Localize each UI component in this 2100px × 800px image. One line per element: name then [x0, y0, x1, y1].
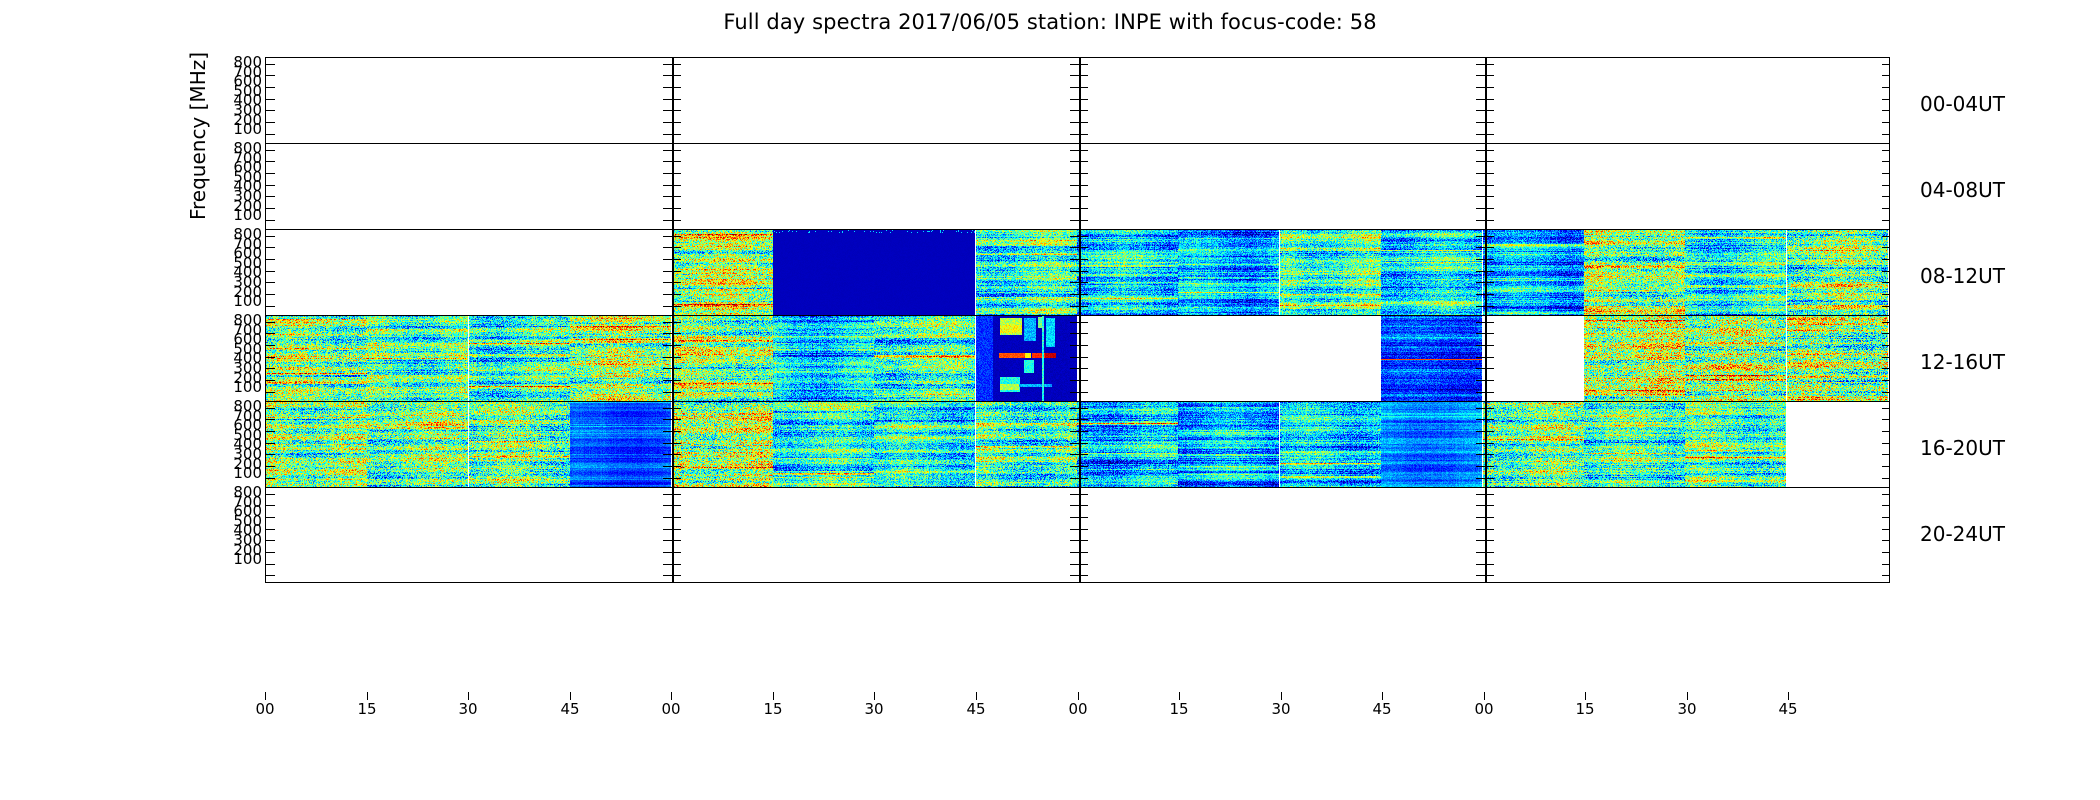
x-tick-label: 00 [1474, 700, 1493, 718]
y-tick-marks [672, 144, 681, 238]
x-tick-label: 30 [1271, 700, 1290, 718]
x-tick-label: 30 [458, 700, 477, 718]
y-tick-marks [1079, 402, 1088, 496]
x-tick-label: 15 [1575, 700, 1594, 718]
x-tick-mark [1788, 692, 1789, 700]
x-tick-mark [570, 692, 571, 700]
x-tick-mark [1281, 692, 1282, 700]
x-tick-label: 15 [1169, 700, 1188, 718]
y-tick-marks [1882, 144, 1890, 238]
panel-frame [265, 487, 1890, 583]
x-tick-label: 00 [1068, 700, 1087, 718]
y-tick-labels: 800700600500400300200100 [198, 144, 262, 221]
row-label-12-16ut: 12-16UT [1920, 350, 2005, 374]
y-tick-label: 100 [198, 211, 262, 221]
y-tick-marks [266, 402, 275, 496]
y-tick-marks [663, 144, 672, 238]
x-axis: 00153045001530450015304500153045 [265, 700, 1890, 730]
row-label-16-20ut: 16-20UT [1920, 436, 2005, 460]
y-tick-marks [1476, 230, 1485, 324]
y-tick-label: 100 [198, 297, 262, 307]
y-tick-marks [266, 488, 275, 582]
y-tick-marks [1070, 316, 1079, 410]
y-tick-labels: 800700600500400300200100 [198, 488, 262, 565]
x-tick-mark [773, 692, 774, 700]
y-tick-labels: 800700600500400300200100 [198, 58, 262, 135]
y-tick-marks [1485, 488, 1494, 582]
y-tick-marks [663, 230, 672, 324]
spectrogram-row-04-08ut [265, 143, 1890, 239]
x-tick-mark [1484, 692, 1485, 700]
y-tick-marks [672, 230, 681, 324]
panel-frame [265, 315, 1890, 411]
spectrogram-row-00-04ut [265, 57, 1890, 153]
y-tick-marks [1070, 488, 1079, 582]
x-tick-mark [1585, 692, 1586, 700]
y-tick-marks [663, 58, 672, 152]
y-tick-marks [672, 402, 681, 496]
spectrogram-row-08-12ut [265, 229, 1890, 325]
y-tick-marks [1485, 402, 1494, 496]
row-label-20-24ut: 20-24UT [1920, 522, 2005, 546]
x-tick-mark [671, 692, 672, 700]
y-tick-marks [1070, 58, 1079, 152]
row-label-08-12ut: 08-12UT [1920, 264, 2005, 288]
y-tick-marks [1070, 144, 1079, 238]
x-tick-label: 15 [763, 700, 782, 718]
y-tick-labels: 800700600500400300200100 [198, 230, 262, 307]
x-tick-label: 45 [1778, 700, 1797, 718]
y-tick-marks [266, 58, 275, 152]
row-label-04-08ut: 04-08UT [1920, 178, 2005, 202]
y-tick-labels: 800700600500400300200100 [198, 402, 262, 479]
y-tick-marks [1079, 316, 1088, 410]
panel-frame [265, 143, 1890, 239]
y-tick-marks [1476, 488, 1485, 582]
y-tick-label: 100 [198, 383, 262, 393]
y-tick-marks [1070, 230, 1079, 324]
x-tick-mark [1382, 692, 1383, 700]
panel-frame [265, 229, 1890, 325]
x-tick-mark [1078, 692, 1079, 700]
y-tick-marks [1476, 402, 1485, 496]
y-tick-marks [1485, 316, 1494, 410]
spectrogram-row-12-16ut [265, 315, 1890, 411]
x-tick-label: 30 [864, 700, 883, 718]
x-tick-mark [976, 692, 977, 700]
y-tick-marks [1476, 316, 1485, 410]
y-tick-marks [1882, 316, 1890, 410]
x-tick-mark [1687, 692, 1688, 700]
y-tick-marks [1079, 488, 1088, 582]
y-tick-marks [663, 316, 672, 410]
y-tick-marks [1882, 488, 1890, 582]
y-tick-marks [1476, 144, 1485, 238]
y-tick-marks [1882, 58, 1890, 152]
x-tick-label: 00 [661, 700, 680, 718]
x-tick-mark [468, 692, 469, 700]
y-tick-marks [1882, 402, 1890, 496]
x-tick-label: 45 [966, 700, 985, 718]
y-tick-marks [672, 58, 681, 152]
y-tick-marks [1079, 230, 1088, 324]
panel-frame [265, 401, 1890, 497]
y-tick-marks [1070, 402, 1079, 496]
spectrogram-row-20-24ut [265, 487, 1890, 583]
y-tick-label: 100 [198, 469, 262, 479]
row-label-00-04ut: 00-04UT [1920, 92, 2005, 116]
y-tick-marks [1476, 58, 1485, 152]
x-tick-label: 30 [1677, 700, 1696, 718]
x-tick-mark [265, 692, 266, 700]
spectrogram-row-16-20ut [265, 401, 1890, 497]
x-tick-mark [1179, 692, 1180, 700]
y-axis-label: Frequency [MHz] [186, 6, 210, 266]
y-tick-marks [266, 316, 275, 410]
x-tick-label: 00 [255, 700, 274, 718]
x-tick-label: 45 [1372, 700, 1391, 718]
y-tick-label: 100 [198, 125, 262, 135]
y-tick-marks [1485, 144, 1494, 238]
y-tick-marks [1485, 58, 1494, 152]
y-tick-marks [1079, 58, 1088, 152]
y-tick-marks [1485, 230, 1494, 324]
y-tick-marks [663, 402, 672, 496]
y-tick-labels: 800700600500400300200100 [198, 316, 262, 393]
x-tick-label: 15 [357, 700, 376, 718]
x-tick-mark [874, 692, 875, 700]
y-tick-label: 100 [198, 555, 262, 565]
y-tick-marks [266, 230, 275, 324]
y-tick-marks [663, 488, 672, 582]
x-tick-label: 45 [560, 700, 579, 718]
page-title: Full day spectra 2017/06/05 station: INP… [0, 10, 2100, 34]
x-tick-mark [367, 692, 368, 700]
y-tick-marks [672, 316, 681, 410]
y-tick-marks [672, 488, 681, 582]
y-tick-marks [266, 144, 275, 238]
y-tick-marks [1079, 144, 1088, 238]
y-tick-marks [1882, 230, 1890, 324]
panel-frame [265, 57, 1890, 153]
